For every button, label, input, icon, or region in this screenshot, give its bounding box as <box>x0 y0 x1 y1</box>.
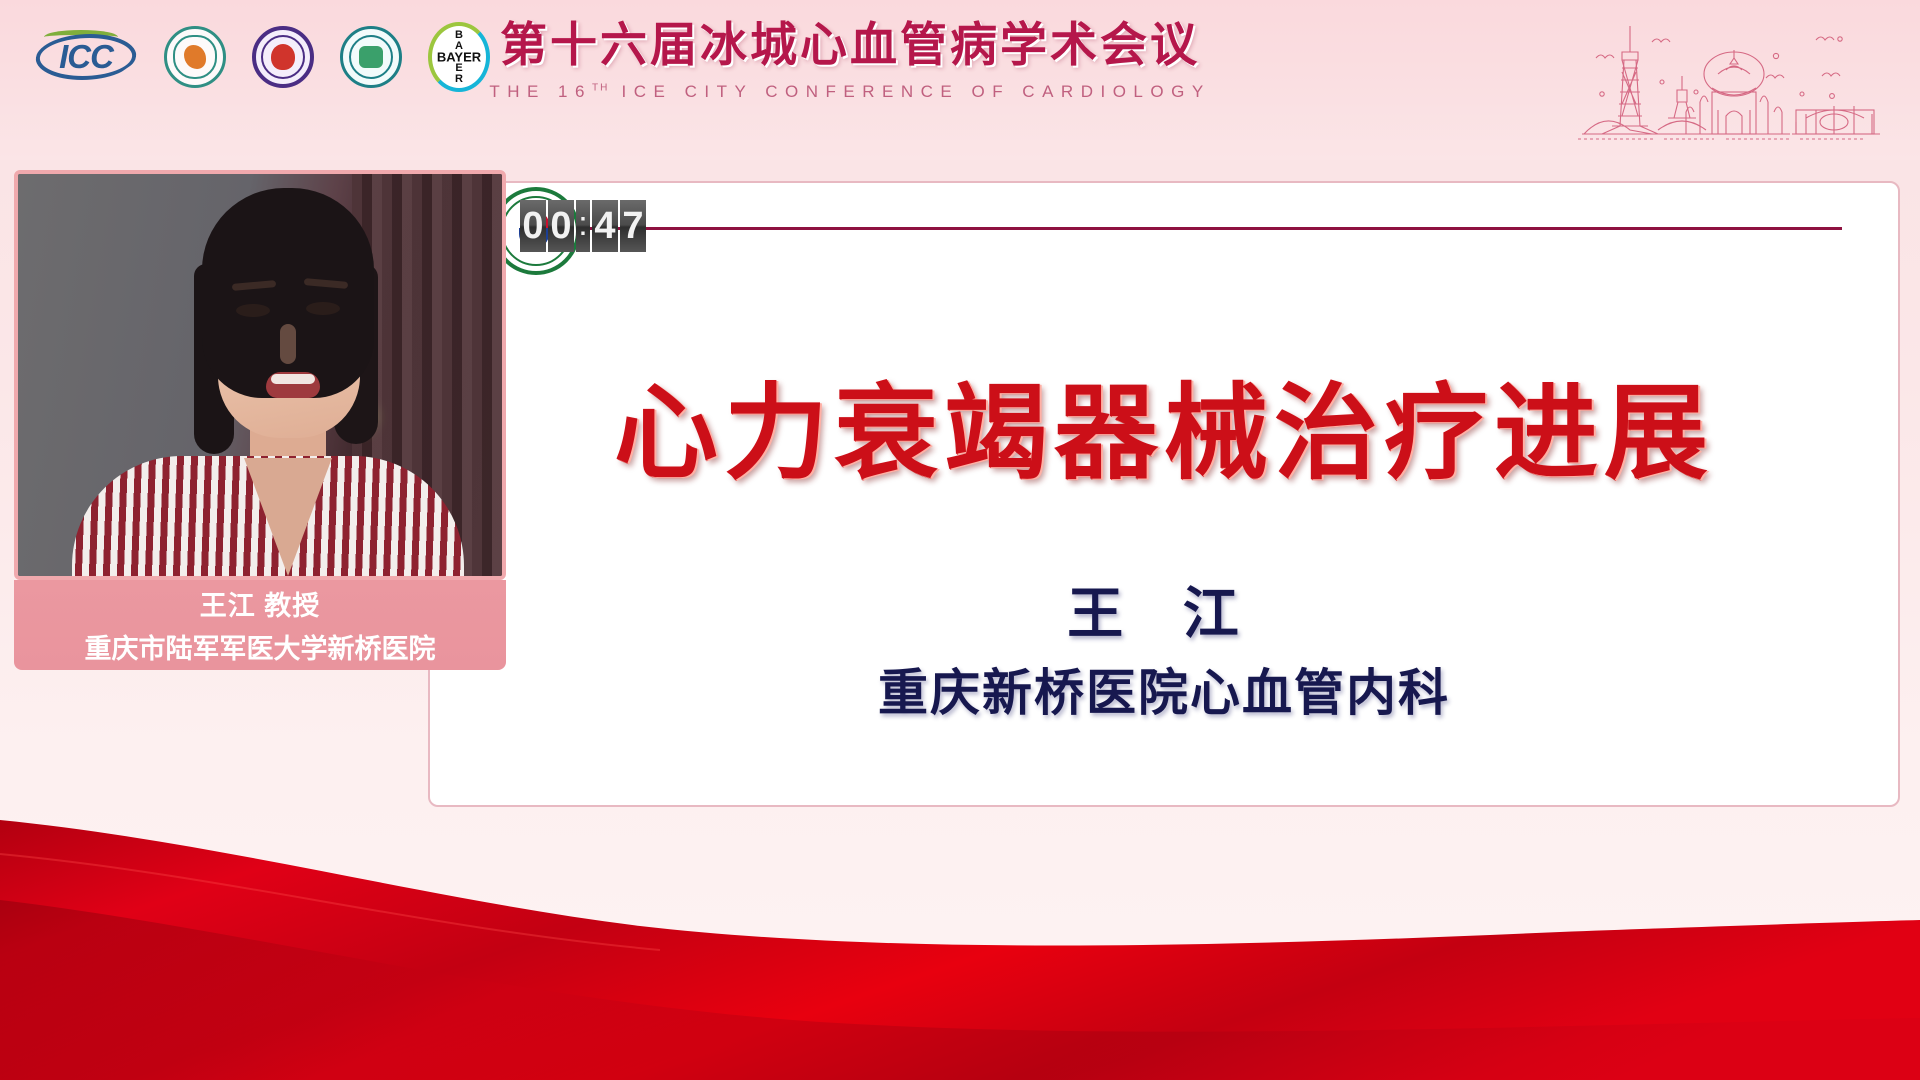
harbin-skyline-illustration <box>1534 6 1894 156</box>
timer-digit-1: 0 <box>520 200 546 252</box>
timer-digit-2: 0 <box>548 200 574 252</box>
icc-logo-text: ICC <box>34 36 138 78</box>
speaker-hair <box>202 188 374 398</box>
speaker-affiliation: 重庆市陆军军医大学新桥医院 <box>85 627 436 666</box>
subtitle-pre: THE 16 <box>489 82 592 101</box>
sponsor-logo-row: ICC BAYER BAYER <box>34 22 490 92</box>
slide-presenter-name: 王 江 <box>430 569 1898 650</box>
speaker-name: 王江 教授 <box>200 584 321 623</box>
speaker-caption-bar: 王江 教授 重庆市陆军军医大学新桥医院 <box>14 580 506 670</box>
slide-title: 心力衰竭器械治疗进展 <box>430 375 1898 493</box>
timer-colon: : <box>576 200 590 252</box>
slide-header-rule <box>590 227 1842 230</box>
speaker-teeth <box>271 374 315 384</box>
conference-subtitle: THE 16TH ICE CITY CONFERENCE OF CARDIOLO… <box>470 82 1230 102</box>
chinese-medical-association-seal <box>252 26 314 88</box>
speaker-nose <box>280 324 296 364</box>
session-timer: 0 0 : 4 7 <box>518 198 648 254</box>
presentation-slide[interactable]: 心力衰竭器械治疗进展 王 江 重庆新桥医院心血管内科 <box>428 181 1900 807</box>
subtitle-ordinal: TH <box>592 82 609 93</box>
icc-logo: ICC <box>34 24 138 90</box>
seal-emblem-icon <box>184 45 206 69</box>
seal-emblem-icon <box>359 46 383 68</box>
cardiology-society-seal <box>340 26 402 88</box>
conference-title: 第十六届冰城心血管病学术会议 <box>470 14 1230 76</box>
speaker-eye-right <box>306 302 340 315</box>
speaker-video-tile[interactable] <box>14 170 506 580</box>
heilongjiang-medical-association-seal <box>164 26 226 88</box>
conference-header: ICC BAYER BAYER 第 <box>0 0 1920 160</box>
conference-title-block: 第十六届冰城心血管病学术会议 THE 16TH ICE CITY CONFERE… <box>470 14 1230 102</box>
timer-digit-4: 7 <box>620 200 646 252</box>
subtitle-post: ICE CITY CONFERENCE OF CARDIOLOGY <box>609 82 1210 101</box>
speaker-eye-left <box>236 304 270 317</box>
speaker-collar <box>244 458 332 576</box>
webinar-stage: ICC BAYER BAYER 第 <box>0 0 1920 1080</box>
timer-digit-3: 4 <box>592 200 618 252</box>
slide-presenter-department: 重庆新桥医院心血管内科 <box>430 653 1898 725</box>
seal-emblem-icon <box>271 44 295 70</box>
